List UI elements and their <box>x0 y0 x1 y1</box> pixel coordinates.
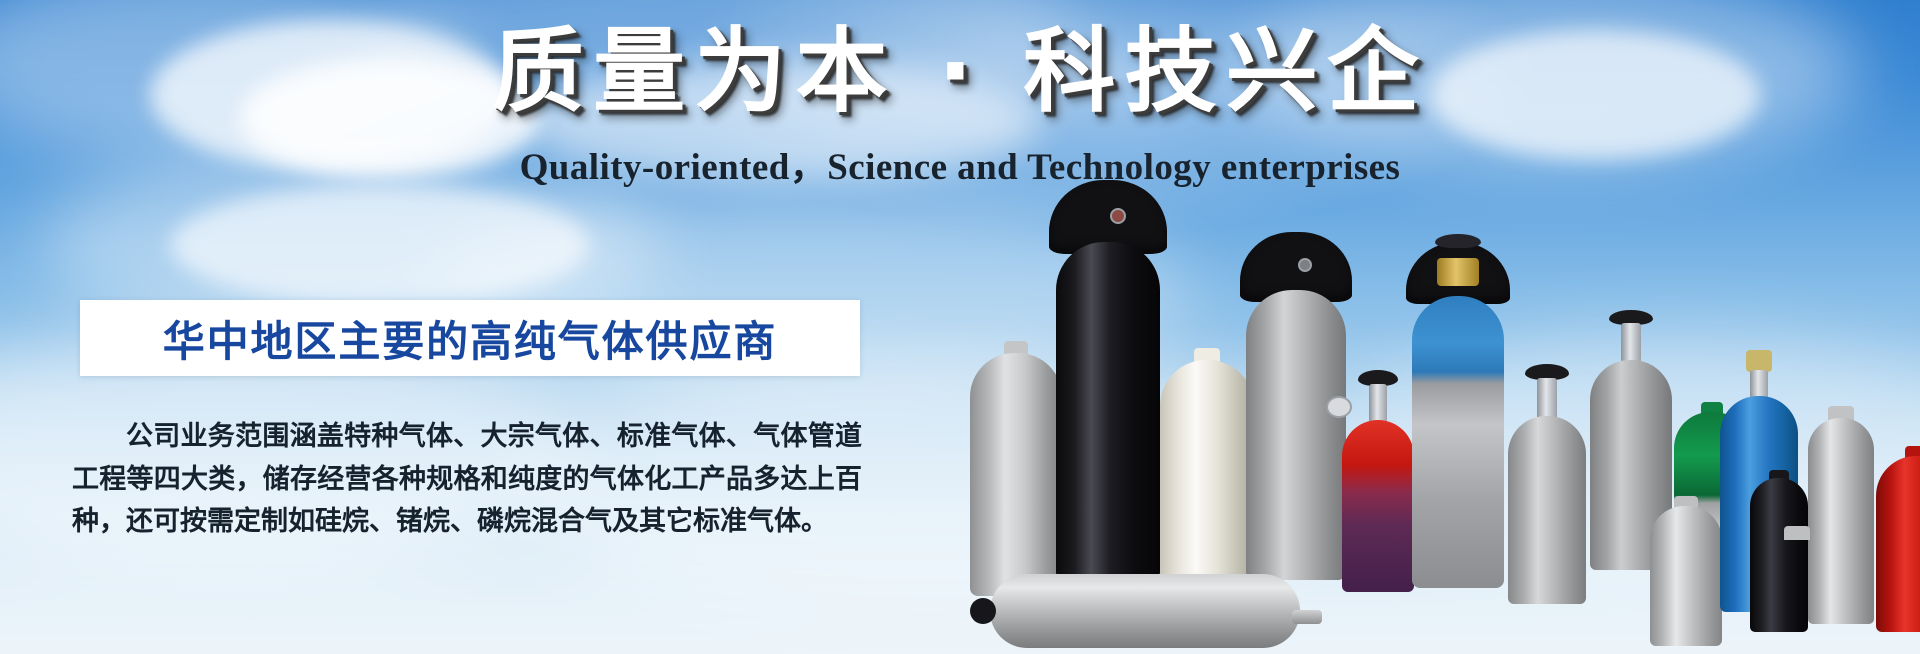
cylinder-valve-stem <box>1537 378 1557 420</box>
hero-banner: 质量为本 · 科技兴企 Quality-oriented，Science and… <box>0 0 1920 654</box>
cylinder-valve-knob <box>1746 350 1772 372</box>
gas-cylinder-horizontal-grey <box>990 574 1300 648</box>
cylinder-gauge <box>1298 258 1312 272</box>
tagline-box: 华中地区主要的高纯气体供应商 <box>80 300 860 376</box>
cylinder-body <box>1412 296 1504 588</box>
cylinder-body <box>1876 456 1920 632</box>
cloud-mid-bright <box>170 185 590 305</box>
gas-cylinder-red <box>1876 446 1920 632</box>
gas-cylinder-aluminium-small-right <box>1760 526 1834 654</box>
cylinder-valve-stem <box>1621 323 1641 363</box>
cylinder-body <box>1508 416 1586 604</box>
cylinder-body <box>1650 506 1722 646</box>
cylinder-body <box>1342 420 1414 592</box>
cylinder-valve-stem <box>1292 610 1322 624</box>
gas-cylinder-blue-silver <box>1412 242 1504 588</box>
cylinder-valve-knob <box>1435 234 1481 248</box>
gas-cylinder-red-purple <box>1342 370 1414 592</box>
product-image-gas-cylinders <box>960 0 1920 654</box>
cylinder-body <box>1760 536 1834 654</box>
cylinder-body <box>1246 290 1346 580</box>
cylinder-body <box>1056 242 1160 580</box>
gas-cylinder-aluminium-small <box>1650 496 1722 646</box>
gas-cylinder-grey-tall-left <box>970 341 1062 596</box>
cylinder-valve-stem <box>1369 384 1387 424</box>
cylinder-pressure-gauge <box>1326 396 1352 418</box>
gas-cylinder-grey-valve <box>1508 364 1586 604</box>
cylinder-body <box>970 353 1062 596</box>
tagline-text: 华中地区主要的高纯气体供应商 <box>163 308 777 369</box>
cylinder-gauge <box>1110 208 1126 224</box>
cylinder-brass-valve <box>1437 258 1479 286</box>
gas-cylinder-black-capped <box>1056 180 1160 580</box>
cylinder-valve-knob <box>970 598 996 624</box>
body-paragraph: 公司业务范围涵盖特种气体、大宗气体、标准气体、气体管道工程等四大类，储存经营各种… <box>72 415 862 543</box>
